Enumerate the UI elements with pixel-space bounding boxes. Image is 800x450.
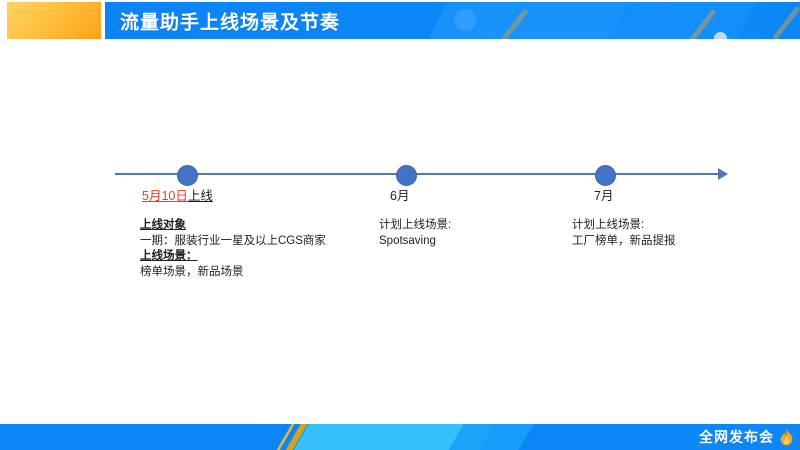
- milestone-1-line-3: 上线场景：: [140, 249, 326, 265]
- milestone-3-body: 计划上线场景: 工厂榜单，新品提报: [572, 218, 676, 249]
- slide-footer: 全网发布会: [0, 424, 800, 450]
- milestone-1-line-1: 上线对象: [140, 218, 326, 234]
- timeline-arrow-icon: [718, 168, 728, 180]
- timeline-axis: [115, 173, 720, 175]
- footer-logo-text: 全网发布会: [699, 427, 774, 447]
- milestone-3-line-1: 计划上线场景:: [572, 218, 676, 234]
- timeline: 5月10日上线 上线对象 一期：服装行业一星及以上CGS商家 上线场景： 榜单场…: [0, 0, 800, 450]
- milestone-3-line-2: 工厂榜单，新品提报: [572, 234, 676, 250]
- milestone-1-date-suffix: 上线: [188, 189, 213, 203]
- timeline-node-2[interactable]: [396, 165, 417, 186]
- milestone-3: 7月 计划上线场景: 工厂榜单，新品提报: [572, 188, 676, 249]
- slide-canvas: 流量助手上线场景及节奏 5月10日上线 上线对象 一期：服装行业一星及以上CGS…: [0, 0, 800, 450]
- timeline-node-1[interactable]: [177, 165, 198, 186]
- timeline-node-3[interactable]: [595, 165, 616, 186]
- milestone-3-date: 7月: [572, 188, 676, 205]
- milestone-2: 6月 计划上线场景: Spotsaving: [379, 188, 451, 249]
- milestone-1-date-highlight: 5月10日: [142, 189, 188, 203]
- footer-logo: 全网发布会: [699, 424, 794, 450]
- milestone-1-line-2: 一期：服装行业一星及以上CGS商家: [140, 234, 326, 250]
- flame-icon: [779, 429, 794, 446]
- milestone-2-body: 计划上线场景: Spotsaving: [379, 218, 451, 249]
- milestone-1: 5月10日上线 上线对象 一期：服装行业一星及以上CGS商家 上线场景： 榜单场…: [140, 188, 326, 280]
- milestone-1-date: 5月10日上线: [140, 188, 326, 205]
- milestone-2-date: 6月: [379, 188, 451, 205]
- milestone-2-line-1: 计划上线场景:: [379, 218, 451, 234]
- milestone-1-body: 上线对象 一期：服装行业一星及以上CGS商家 上线场景： 榜单场景，新品场景: [140, 218, 326, 280]
- milestone-2-line-2: Spotsaving: [379, 234, 451, 250]
- milestone-1-line-4: 榜单场景，新品场景: [140, 265, 326, 281]
